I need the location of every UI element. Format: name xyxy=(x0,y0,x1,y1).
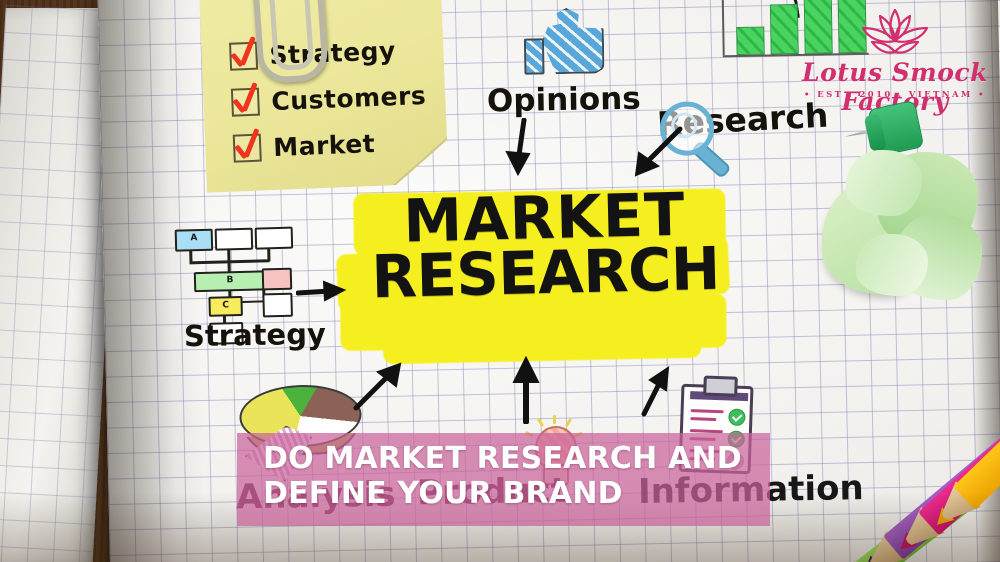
org-node-c: C xyxy=(208,296,243,317)
org-node-pink xyxy=(262,268,293,291)
clipboard-clip xyxy=(703,376,738,397)
label-opinions: Opinions xyxy=(487,81,641,120)
arrow-opinions-down xyxy=(500,118,544,178)
caption-banner: DO MARKET RESEARCH AND DEFINE YOUR BRAND xyxy=(237,433,770,526)
org-node-top-2 xyxy=(215,228,254,251)
caption-line2: DEFINE YOUR BRAND xyxy=(263,476,763,511)
arrow-product-up xyxy=(506,356,546,424)
brand-logo: Lotus Smock Factory • EST . 2010 . VIETN… xyxy=(800,6,990,110)
brand-established: • EST . 2010 . VIETNAM • xyxy=(800,90,990,100)
crumple-lobe xyxy=(856,234,928,296)
label-strategy: Strategy xyxy=(184,317,326,353)
org-node-b: B xyxy=(194,270,266,292)
checklist-item-label: Market xyxy=(273,129,376,162)
bar-2 xyxy=(770,4,799,54)
caption-line1: DO MARKET RESEARCH AND xyxy=(263,441,763,476)
arrow-research-down-left xyxy=(628,125,684,181)
clipboard-line xyxy=(691,409,724,413)
checklist-item[interactable]: Customers xyxy=(231,72,433,126)
arrow-information-up-right xyxy=(634,366,678,418)
thumbs-up-base xyxy=(524,38,545,74)
checkbox-checked-icon[interactable] xyxy=(233,134,262,163)
checklist-item[interactable]: Market xyxy=(232,118,434,172)
arrow-analysis-up-right xyxy=(352,362,408,412)
page-title-line2: RESEARCH xyxy=(345,241,746,306)
org-node-c-label: C xyxy=(210,298,240,311)
page-title: MARKET RESEARCH xyxy=(344,185,747,306)
checklist-item-label: Customers xyxy=(271,80,427,115)
arrow-strategy-right xyxy=(296,278,348,306)
screenshot-stage: Lotus Smock Factory • EST . 2010 . VIETN… xyxy=(0,0,1000,562)
clipboard-check-1 xyxy=(728,408,746,426)
org-node-b-label: B xyxy=(196,272,264,286)
checkbox-checked-icon[interactable] xyxy=(229,42,258,71)
bulb-ray xyxy=(565,418,572,427)
crumpled-paper xyxy=(818,148,990,308)
bulb-ray xyxy=(553,415,556,424)
org-node-right-2 xyxy=(262,293,293,318)
bar-1 xyxy=(736,27,764,55)
org-node-a-label: A xyxy=(177,231,211,244)
caption-text: DO MARKET RESEARCH AND DEFINE YOUR BRAND xyxy=(263,441,763,511)
clipboard-line xyxy=(690,417,716,421)
lotus-icon xyxy=(852,6,938,58)
checkbox-checked-icon[interactable] xyxy=(231,88,260,117)
thumbs-up-icon xyxy=(523,7,602,80)
thumbs-up-hand xyxy=(541,7,604,74)
crumple-lobe xyxy=(846,150,922,216)
org-node-top-3 xyxy=(255,227,294,250)
org-node-a: A xyxy=(175,229,214,252)
